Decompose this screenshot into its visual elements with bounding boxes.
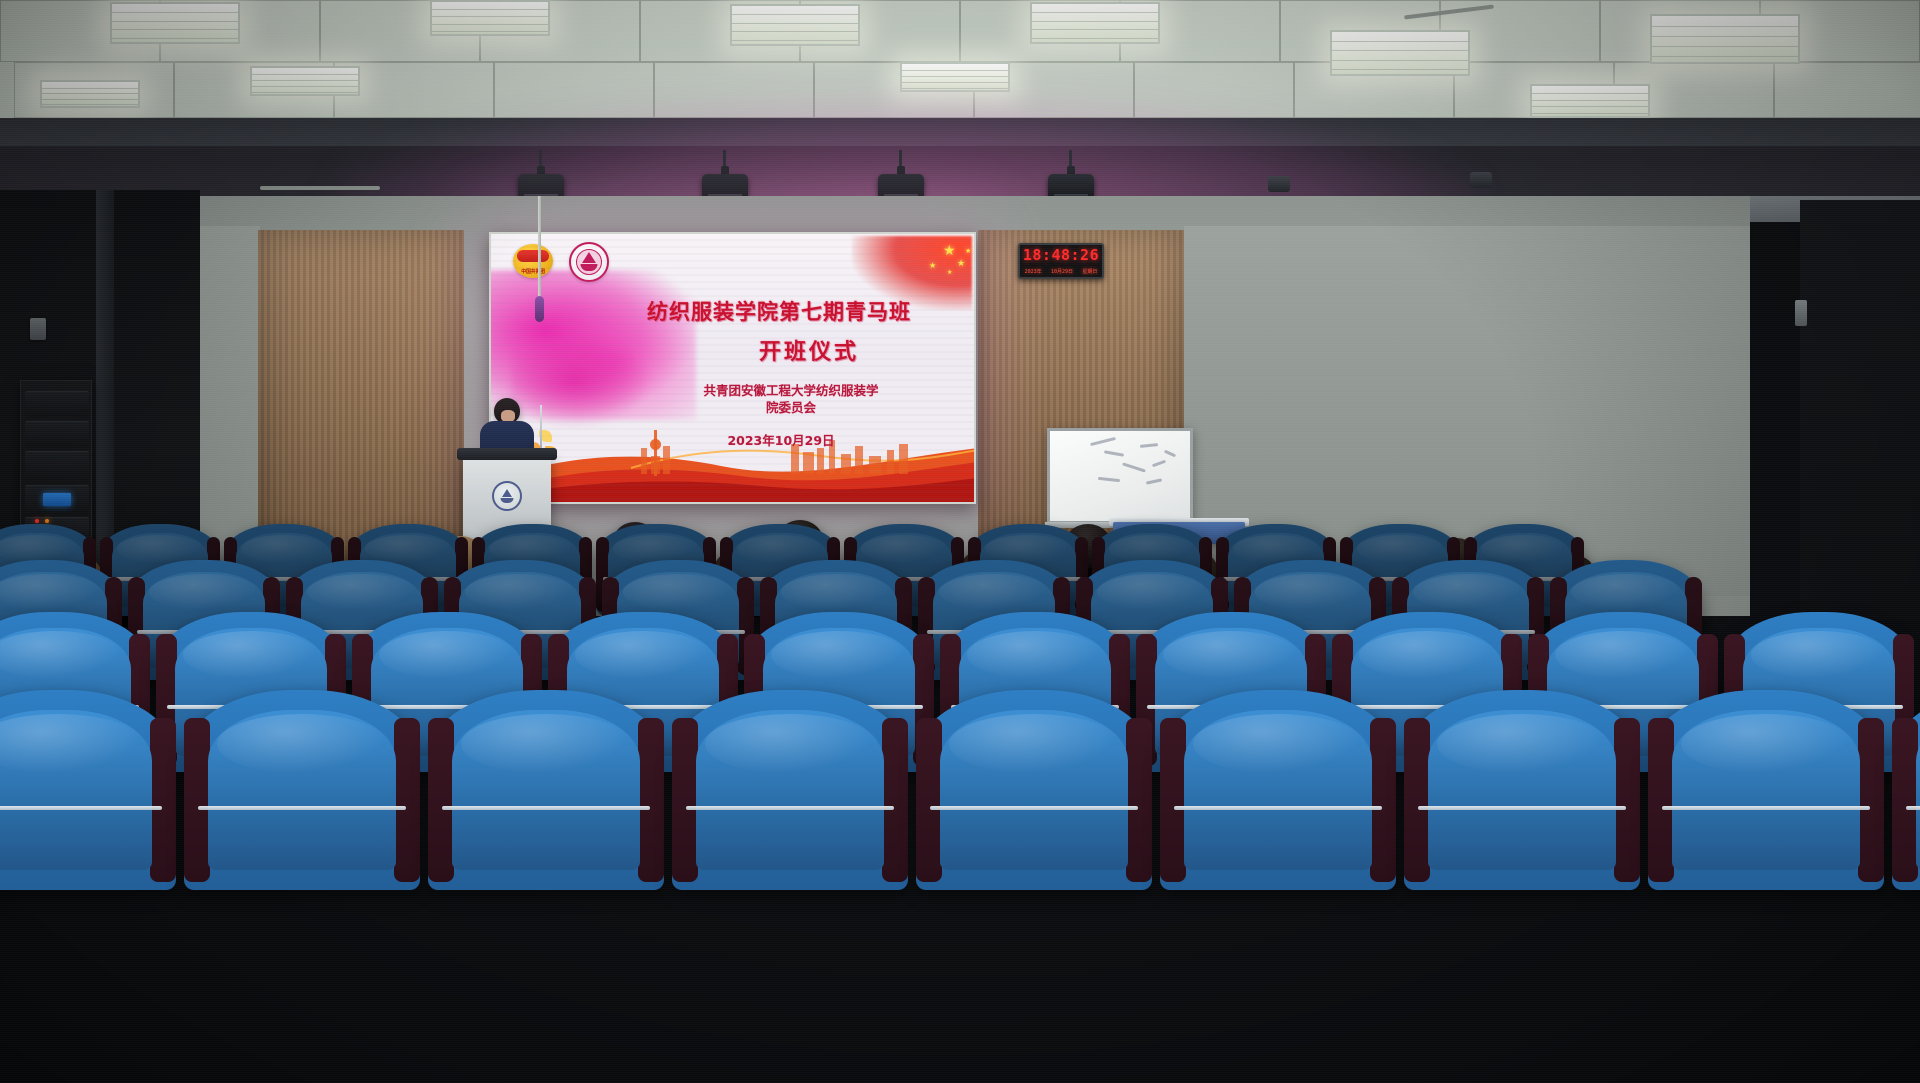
rack-lcd-display <box>43 493 71 506</box>
ceiling-light-panel <box>900 62 1010 92</box>
seat-side-panel <box>1892 718 1918 882</box>
seat-highlight <box>1233 535 1319 563</box>
auditorium-scene: ★★★★★ 中国共青团 纺织服装学院第七期青马班 开班仪式 共青团 <box>0 0 1920 1083</box>
seat-highlight <box>985 535 1071 563</box>
seat-highlight <box>1357 535 1443 563</box>
seat-highlight <box>1359 631 1496 679</box>
ceiling-light-panel <box>250 66 360 96</box>
ceiling-speaker-icon <box>1268 176 1290 192</box>
seat-highlight <box>1109 535 1195 563</box>
seat-highlight <box>379 631 516 679</box>
screen-date: 2023年10月29日 <box>621 430 941 449</box>
podium-crest-icon <box>492 481 522 511</box>
seat-trim-band <box>930 806 1138 810</box>
seat-highlight <box>365 535 451 563</box>
seat-highlight <box>183 631 320 679</box>
whiteboard <box>1047 428 1193 524</box>
right-dark-wall <box>1800 200 1920 620</box>
ceiling-rail <box>260 186 380 190</box>
seat-highlight <box>461 714 631 774</box>
seat-trim-band <box>0 806 162 810</box>
clock-date: 10月29日 <box>1051 268 1073 275</box>
seat-side-panel <box>1858 718 1884 882</box>
seat-highlight <box>241 535 327 563</box>
seat-side-panel <box>1126 718 1152 882</box>
auditorium-seat[interactable] <box>916 690 1152 890</box>
seat-side-panel <box>184 718 210 882</box>
auditorium-seat[interactable] <box>428 690 664 890</box>
status-led-amber <box>45 519 49 523</box>
hanging-microphone <box>535 296 544 322</box>
clock-subline: 2023年 10月29日 星期日 <box>1020 268 1102 275</box>
seat-side-panel <box>394 718 420 882</box>
ceiling-light-panel <box>730 4 860 46</box>
hanging-cable <box>538 196 541 300</box>
seat-highlight <box>1681 714 1851 774</box>
clock-weekday: 星期日 <box>1082 268 1097 275</box>
seat-highlight <box>1555 631 1692 679</box>
seat-highlight <box>705 714 875 774</box>
clock-year: 2023年 <box>1025 268 1042 275</box>
auditorium-seat[interactable] <box>672 690 908 890</box>
seat-highlight <box>489 535 575 563</box>
seat-highlight <box>861 535 947 563</box>
ceiling-light-panel <box>1030 2 1160 44</box>
auditorium-seat[interactable] <box>0 690 176 890</box>
podium-top-surface <box>457 448 557 460</box>
seat-trim-band <box>1662 806 1870 810</box>
ceiling-light-panel <box>1530 84 1650 118</box>
seat-highlight <box>0 535 79 563</box>
seat-side-panel <box>638 718 664 882</box>
seat-highlight <box>771 631 908 679</box>
ceiling-light-panel <box>430 0 550 36</box>
seat-side-panel <box>1160 718 1186 882</box>
ceiling-speaker-icon <box>1470 172 1492 188</box>
ceiling-tile <box>1774 62 1920 118</box>
seat-trim-band <box>686 806 894 810</box>
led-digital-clock: 18:48:26 2023年 10月29日 星期日 <box>1018 243 1104 279</box>
seat-side-panel <box>1404 718 1430 882</box>
seat-trim-band <box>442 806 650 810</box>
seat-trim-band <box>198 806 406 810</box>
auditorium-seat[interactable] <box>184 690 420 890</box>
status-led-red <box>35 519 39 523</box>
ceiling-light-panel <box>1330 30 1470 76</box>
seat-side-panel <box>916 718 942 882</box>
seat-trim-band <box>1906 806 1920 810</box>
ceiling-light-panel <box>40 80 140 108</box>
led-scanline-texture <box>491 234 974 502</box>
screen-subtitle: 共青团安徽工程大学纺织服装学 院委员会 <box>621 382 961 416</box>
seat-highlight <box>1481 535 1567 563</box>
seat-highlight <box>1437 714 1607 774</box>
ceiling-light-panel <box>110 2 240 44</box>
auditorium-seat[interactable] <box>1648 690 1884 890</box>
seat-highlight <box>1751 631 1888 679</box>
seat-side-panel <box>882 718 908 882</box>
clock-time: 18:48:26 <box>1020 246 1102 264</box>
seat-trim-band <box>1418 806 1626 810</box>
screen-subtitle-line2: 院委员会 <box>621 399 961 416</box>
seat-highlight <box>575 631 712 679</box>
seat-highlight <box>613 535 699 563</box>
seat-side-panel <box>150 718 176 882</box>
seat-highlight <box>967 631 1104 679</box>
auditorium-seat[interactable] <box>1404 690 1640 890</box>
seat-trim-band <box>1174 806 1382 810</box>
seat-side-panel <box>1648 718 1674 882</box>
seat-highlight <box>1163 631 1300 679</box>
wall-fixture-right <box>1795 300 1807 326</box>
seat-highlight <box>737 535 823 563</box>
auditorium-seat[interactable] <box>1160 690 1396 890</box>
screen-subtitle-line1: 共青团安徽工程大学纺织服装学 <box>621 382 961 399</box>
seat-highlight <box>1193 714 1363 774</box>
seat-side-panel <box>672 718 698 882</box>
ceiling-light-panel <box>1650 14 1800 64</box>
seat-highlight <box>117 535 203 563</box>
auditorium-seat[interactable] <box>1892 690 1920 890</box>
screen-title-line1: 纺织服装学院第七期青马班 <box>583 296 975 326</box>
led-display-screen: ★★★★★ 中国共青团 纺织服装学院第七期青马班 开班仪式 共青团 <box>489 232 976 504</box>
screen-title-line2: 开班仪式 <box>659 334 959 366</box>
seat-side-panel <box>1614 718 1640 882</box>
wall-switch-plate[interactable] <box>30 318 46 340</box>
seat-side-panel <box>1370 718 1396 882</box>
seat-highlight <box>217 714 387 774</box>
seat-side-panel <box>428 718 454 882</box>
seat-highlight <box>949 714 1119 774</box>
